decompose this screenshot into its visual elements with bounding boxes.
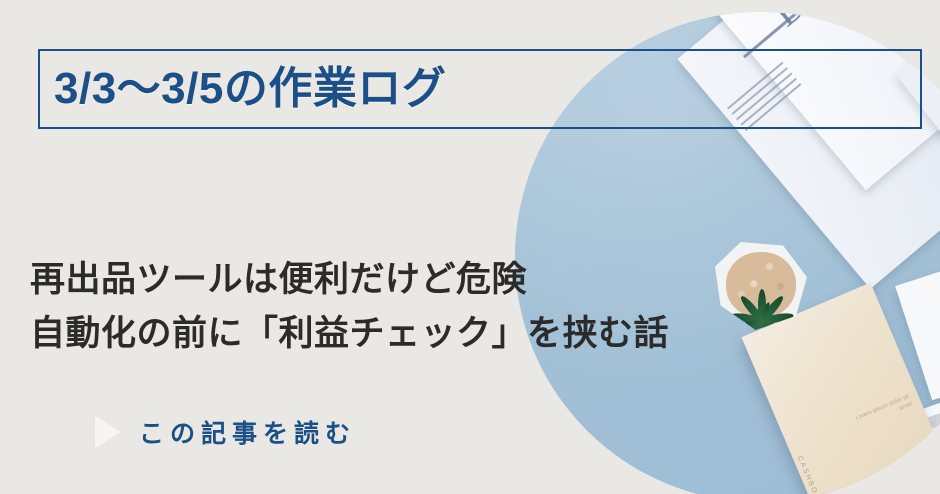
play-triangle-icon — [95, 416, 121, 448]
headline-line-2: 自動化の前に「利益チェック」を挟む話 — [30, 307, 669, 361]
headline: 再出品ツールは便利だけど危険 自動化の前に「利益チェック」を挟む話 — [30, 253, 669, 362]
title-box: 3/3〜3/5の作業ログ — [38, 49, 922, 129]
read-article-cta[interactable]: この記事を読む — [95, 414, 356, 450]
article-banner: BUSIN CASHBOOK Lorem ipsum dolor sit ame… — [0, 0, 940, 494]
headline-line-1: 再出品ツールは便利だけど危険 — [30, 253, 669, 307]
read-article-label: この記事を読む — [139, 414, 356, 450]
page-title: 3/3〜3/5の作業ログ — [54, 67, 446, 111]
notebook-sub-label: Lorem ipsum dolor sit amet — [843, 393, 914, 435]
